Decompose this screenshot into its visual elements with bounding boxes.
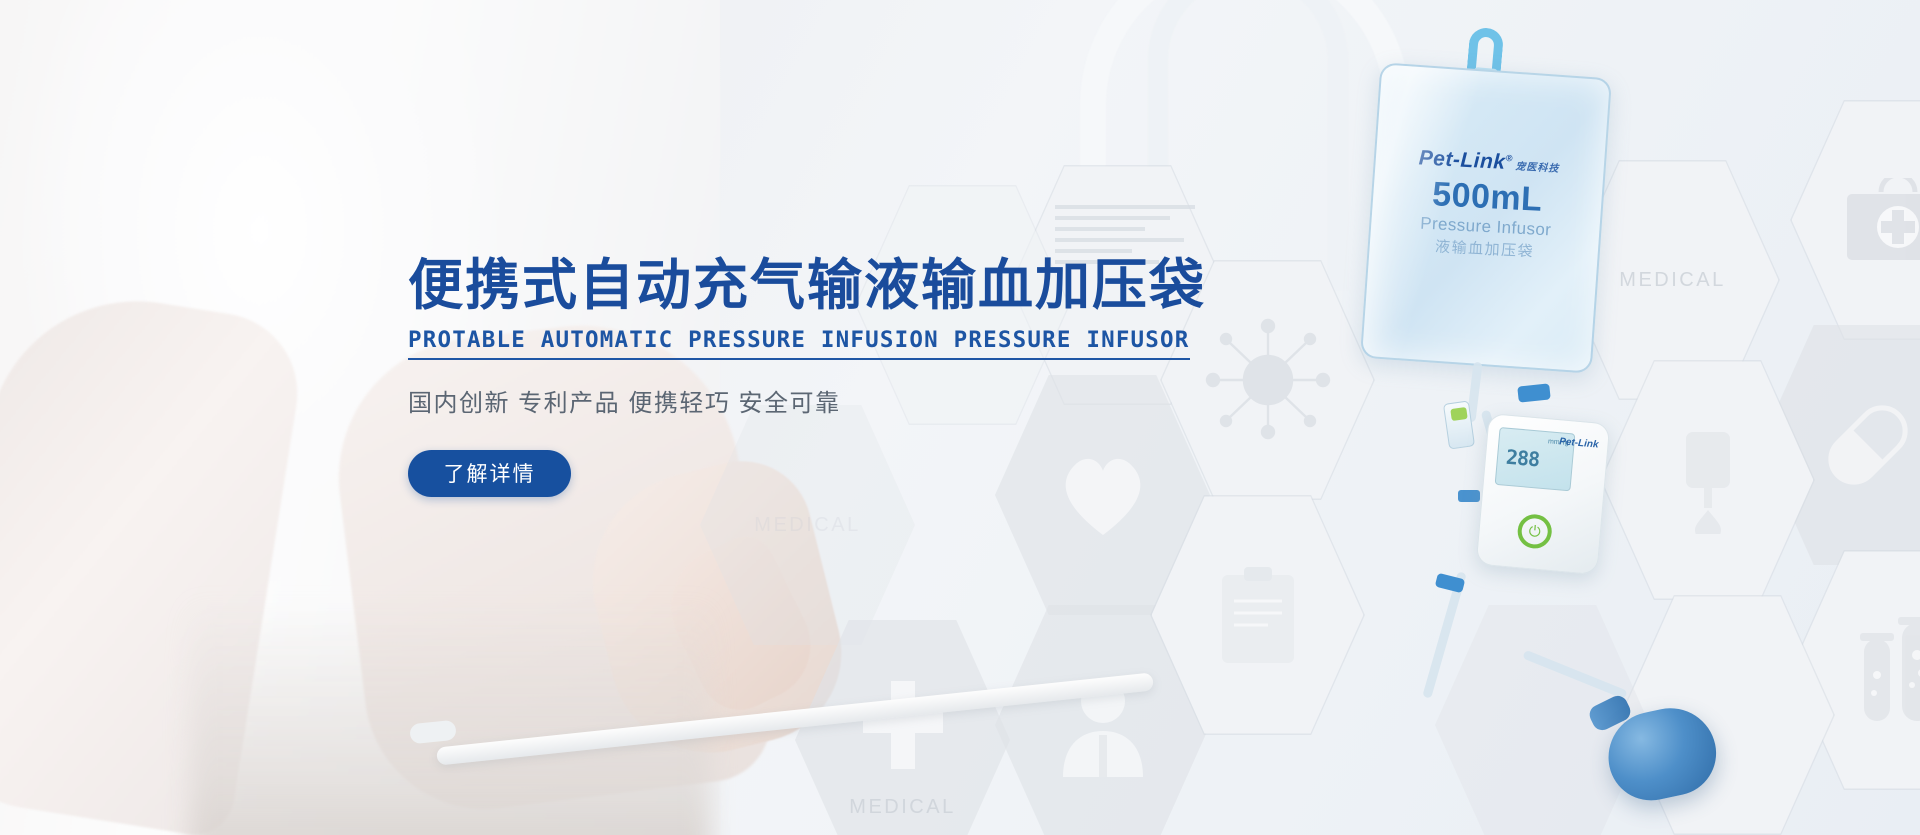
- cross-icon: [855, 677, 951, 773]
- bag-brand-name: Pet-Link®宠医科技: [1375, 144, 1604, 180]
- bag-brand-registered-mark: ®: [1505, 153, 1513, 163]
- hex-medical-text: MEDICAL: [754, 514, 860, 537]
- page-title: 便携式自动充气输液输血加压袋: [408, 255, 1228, 317]
- tube-clip-mid: [1458, 490, 1480, 502]
- pressure-bag-label: Pet-Link®宠医科技 500mL Pressure Infusor 液输血…: [1370, 144, 1603, 265]
- hex-medical-text: MEDICAL: [795, 796, 1010, 819]
- pressure-controller-device: mmHg 288 Pet-Link ⏻: [1476, 413, 1611, 575]
- power-button[interactable]: ⏻: [1516, 513, 1553, 550]
- page-subtitle: PROTABLE AUTOMATIC PRESSURE INFUSION PRE…: [408, 327, 1190, 353]
- tube-clip-upper: [1517, 383, 1550, 402]
- subtitle-underline: PROTABLE AUTOMATIC PRESSURE INFUSION PRE…: [408, 327, 1190, 360]
- lcd-pressure-value: 288: [1505, 445, 1540, 472]
- feature-list: 国内创新 专利产品 便携轻巧 安全可靠: [408, 383, 1228, 418]
- clipboard-icon: [1216, 565, 1300, 665]
- hex-cross: MEDICAL: [795, 615, 1010, 835]
- pressure-infusion-bag: Pet-Link®宠医科技 500mL Pressure Infusor 液输血…: [1360, 62, 1612, 373]
- banner-copy: 便携式自动充气输液输血加压袋 PROTABLE AUTOMATIC PRESSU…: [408, 255, 1228, 497]
- bag-volume: 500mL: [1372, 172, 1602, 223]
- bag-brand-chinese: 宠医科技: [1515, 161, 1560, 174]
- hero-banner: MEDICAL MEDICAL MEDICAL: [0, 0, 1920, 835]
- product-image-group: Pet-Link®宠医科技 500mL Pressure Infusor 液输血…: [1290, 10, 1890, 835]
- iv-tube-to-bulb: [1522, 650, 1627, 700]
- learn-more-button[interactable]: 了解详情: [408, 450, 571, 497]
- iv-valve-indicator: [1450, 407, 1468, 421]
- bag-brand-text: Pet-Link: [1418, 146, 1506, 174]
